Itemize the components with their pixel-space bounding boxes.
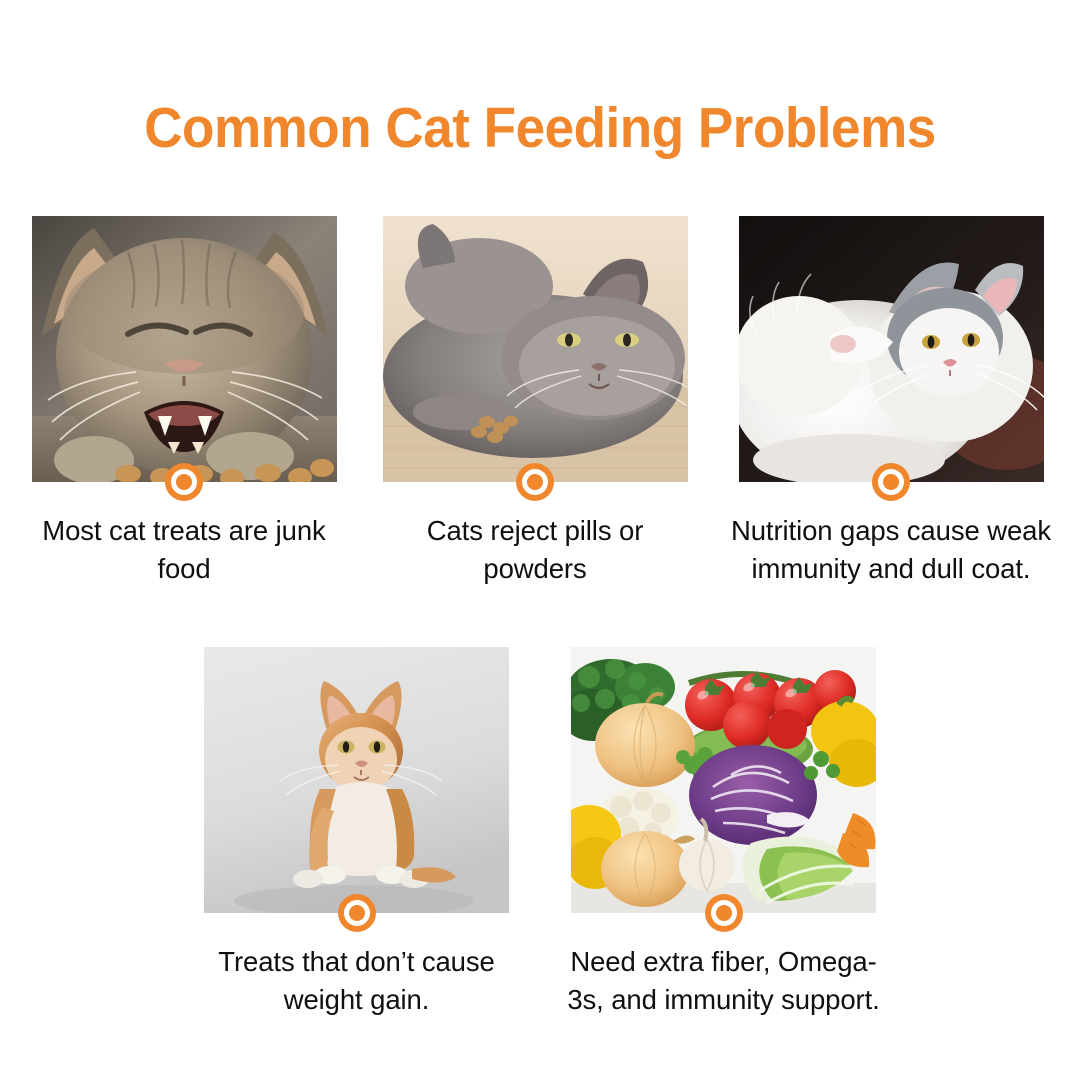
bullseye-inner-ring [711, 900, 737, 926]
bullseye-inner-ring [522, 469, 548, 495]
infographic-root: Common Cat Feeding Problems [0, 0, 1080, 1080]
bullseye-center-dot [176, 474, 192, 490]
page-title: Common Cat Feeding Problems [38, 96, 1042, 160]
card-image-wrap [571, 647, 876, 913]
card-row-top: Most cat treats are junk food [0, 216, 1080, 588]
card-weight-gain[interactable]: Treats that don’t cause weight gain. [192, 647, 522, 1019]
card-caption: Treats that don’t cause weight gain. [192, 943, 522, 1019]
card-row-bottom: Treats that don’t cause weight gain. [0, 647, 1080, 1019]
bullseye-marker [338, 894, 376, 932]
card-caption: Cats reject pills or powders [375, 512, 695, 588]
bullseye-inner-ring [344, 900, 370, 926]
grey-cat-lying-beside-kibble-photo [383, 216, 688, 482]
card-junk-food[interactable]: Most cat treats are junk food [24, 216, 344, 588]
thin-ginger-cat-sitting-photo [204, 647, 509, 913]
bullseye-marker [165, 463, 203, 501]
bullseye-center-dot [527, 474, 543, 490]
card-caption: Most cat treats are junk food [24, 512, 344, 588]
bullseye-marker [516, 463, 554, 501]
bullseye-center-dot [716, 905, 732, 921]
fluffy-white-and-grey-cat-photo [739, 216, 1044, 482]
card-reject-pills[interactable]: Cats reject pills or powders [375, 216, 695, 588]
card-image-wrap [32, 216, 337, 482]
card-image-wrap [204, 647, 509, 913]
card-caption: Need extra fiber, Omega-3s, and immunity… [559, 943, 889, 1019]
bullseye-center-dot [349, 905, 365, 921]
card-nutrition-gaps[interactable]: Nutrition gaps cause weak immunity and d… [726, 216, 1056, 588]
bullseye-inner-ring [171, 469, 197, 495]
card-image-wrap [383, 216, 688, 482]
bullseye-center-dot [883, 474, 899, 490]
bullseye-inner-ring [878, 469, 904, 495]
card-image-wrap [739, 216, 1044, 482]
fresh-vegetables-assortment-photo [571, 647, 876, 913]
card-caption: Nutrition gaps cause weak immunity and d… [726, 512, 1056, 588]
bullseye-marker [872, 463, 910, 501]
bullseye-marker [705, 894, 743, 932]
grimacing-tabby-cat-with-kibble-photo [32, 216, 337, 482]
card-fiber-omega[interactable]: Need extra fiber, Omega-3s, and immunity… [559, 647, 889, 1019]
